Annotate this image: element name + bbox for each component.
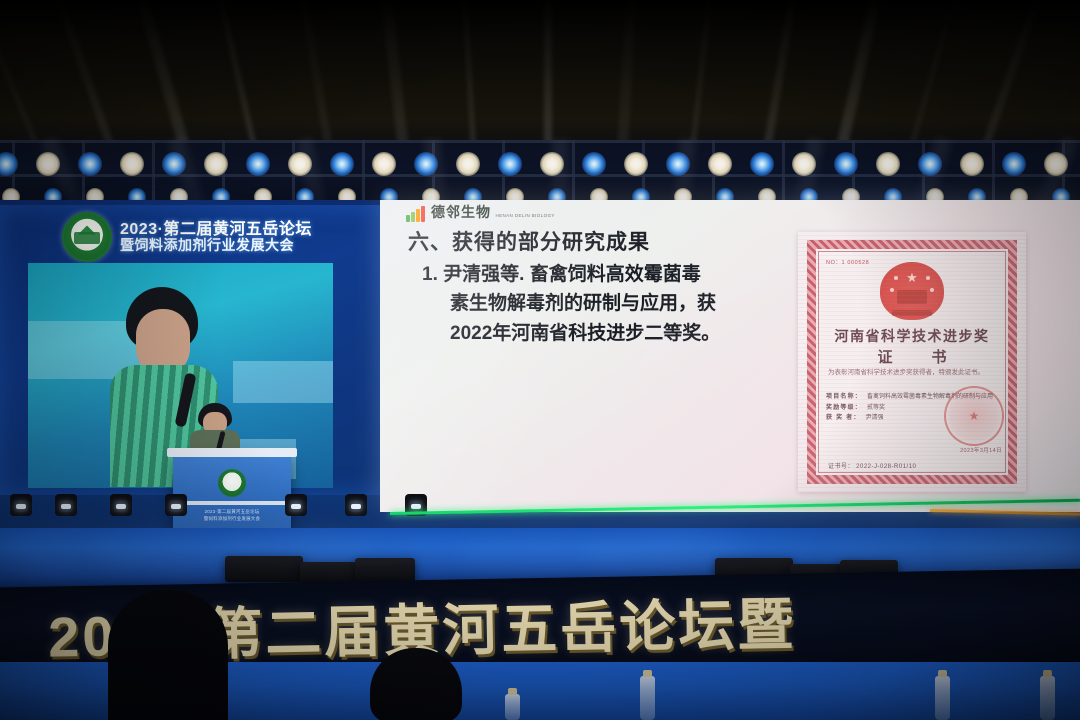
water-bottle	[935, 676, 950, 720]
ceiling-light-beam	[0, 0, 41, 153]
venue-ceiling	[0, 0, 1080, 150]
white-spotlight-icon	[708, 152, 732, 176]
moving-head-light	[345, 490, 367, 520]
blue-spotlight-icon	[0, 152, 18, 176]
white-spotlight-icon	[204, 152, 228, 176]
truss-bar	[0, 140, 1080, 143]
blue-spotlight-icon	[834, 152, 858, 176]
white-spotlight-icon	[456, 152, 480, 176]
white-spotlight-icon	[624, 152, 648, 176]
blue-spotlight-icon	[246, 152, 270, 176]
water-bottle	[505, 694, 520, 720]
white-spotlight-icon	[960, 152, 984, 176]
blue-spotlight-icon	[1002, 152, 1026, 176]
conference-stage-photo: 2023·第二届黄河五岳论坛 暨饲料添加剂行业发展大会 德邻生物 HENAN D…	[0, 0, 1080, 720]
moving-head-light	[55, 490, 77, 520]
blue-spotlight-icon	[330, 152, 354, 176]
stage-floor-monitor	[225, 556, 303, 582]
blue-spotlight-icon	[498, 152, 522, 176]
ceiling-light-beam	[906, 0, 959, 159]
ceiling-light-beam	[979, 0, 1044, 157]
left-screen-title-line2: 暨饲料添加剂行业发展大会	[120, 238, 312, 253]
blue-spotlight-icon	[750, 152, 774, 176]
blue-spotlight-icon	[78, 152, 102, 176]
left-screen-title-line1: 2023·第二届黄河五岳论坛	[120, 221, 312, 238]
ceiling-light-beam	[52, 0, 117, 157]
water-bottle	[1040, 676, 1055, 720]
main-projection-slide: 德邻生物 HENAN DELIN BIOLOGY 六、获得的部分研究成果 1. …	[380, 200, 1080, 512]
podium-divider	[177, 501, 287, 505]
truss-bar	[0, 174, 1080, 177]
conference-emblem-icon	[218, 469, 246, 497]
blue-spotlight-icon	[582, 152, 606, 176]
water-bottle	[640, 676, 655, 720]
moving-head-light	[110, 490, 132, 520]
white-spotlight-icon	[876, 152, 900, 176]
podium-text-line2: 暨饲料添加剂行业发展大会	[173, 516, 291, 523]
left-screen-header: 2023·第二届黄河五岳论坛 暨饲料添加剂行业发展大会	[0, 211, 390, 263]
stage-floor-monitor	[355, 558, 415, 582]
projection-sheen	[380, 200, 1080, 512]
white-spotlight-icon	[120, 152, 144, 176]
moving-head-light	[405, 490, 427, 520]
moving-head-light	[285, 490, 307, 520]
ceiling-light-beam	[216, 0, 260, 161]
podium-text-line1: 2023·第二届黄河五岳论坛	[173, 509, 291, 516]
ceiling-light-beam	[761, 0, 798, 163]
ceiling-light-beam	[134, 0, 193, 160]
ceiling-light-beam	[833, 0, 882, 162]
foreground-silhouette-left	[108, 590, 228, 720]
moving-head-light	[165, 490, 187, 520]
ceiling-light-beam	[298, 0, 335, 163]
moving-head-light	[10, 490, 32, 520]
podium-top-surface	[167, 448, 297, 457]
conference-emblem-icon	[62, 212, 112, 262]
white-spotlight-icon	[372, 152, 396, 176]
